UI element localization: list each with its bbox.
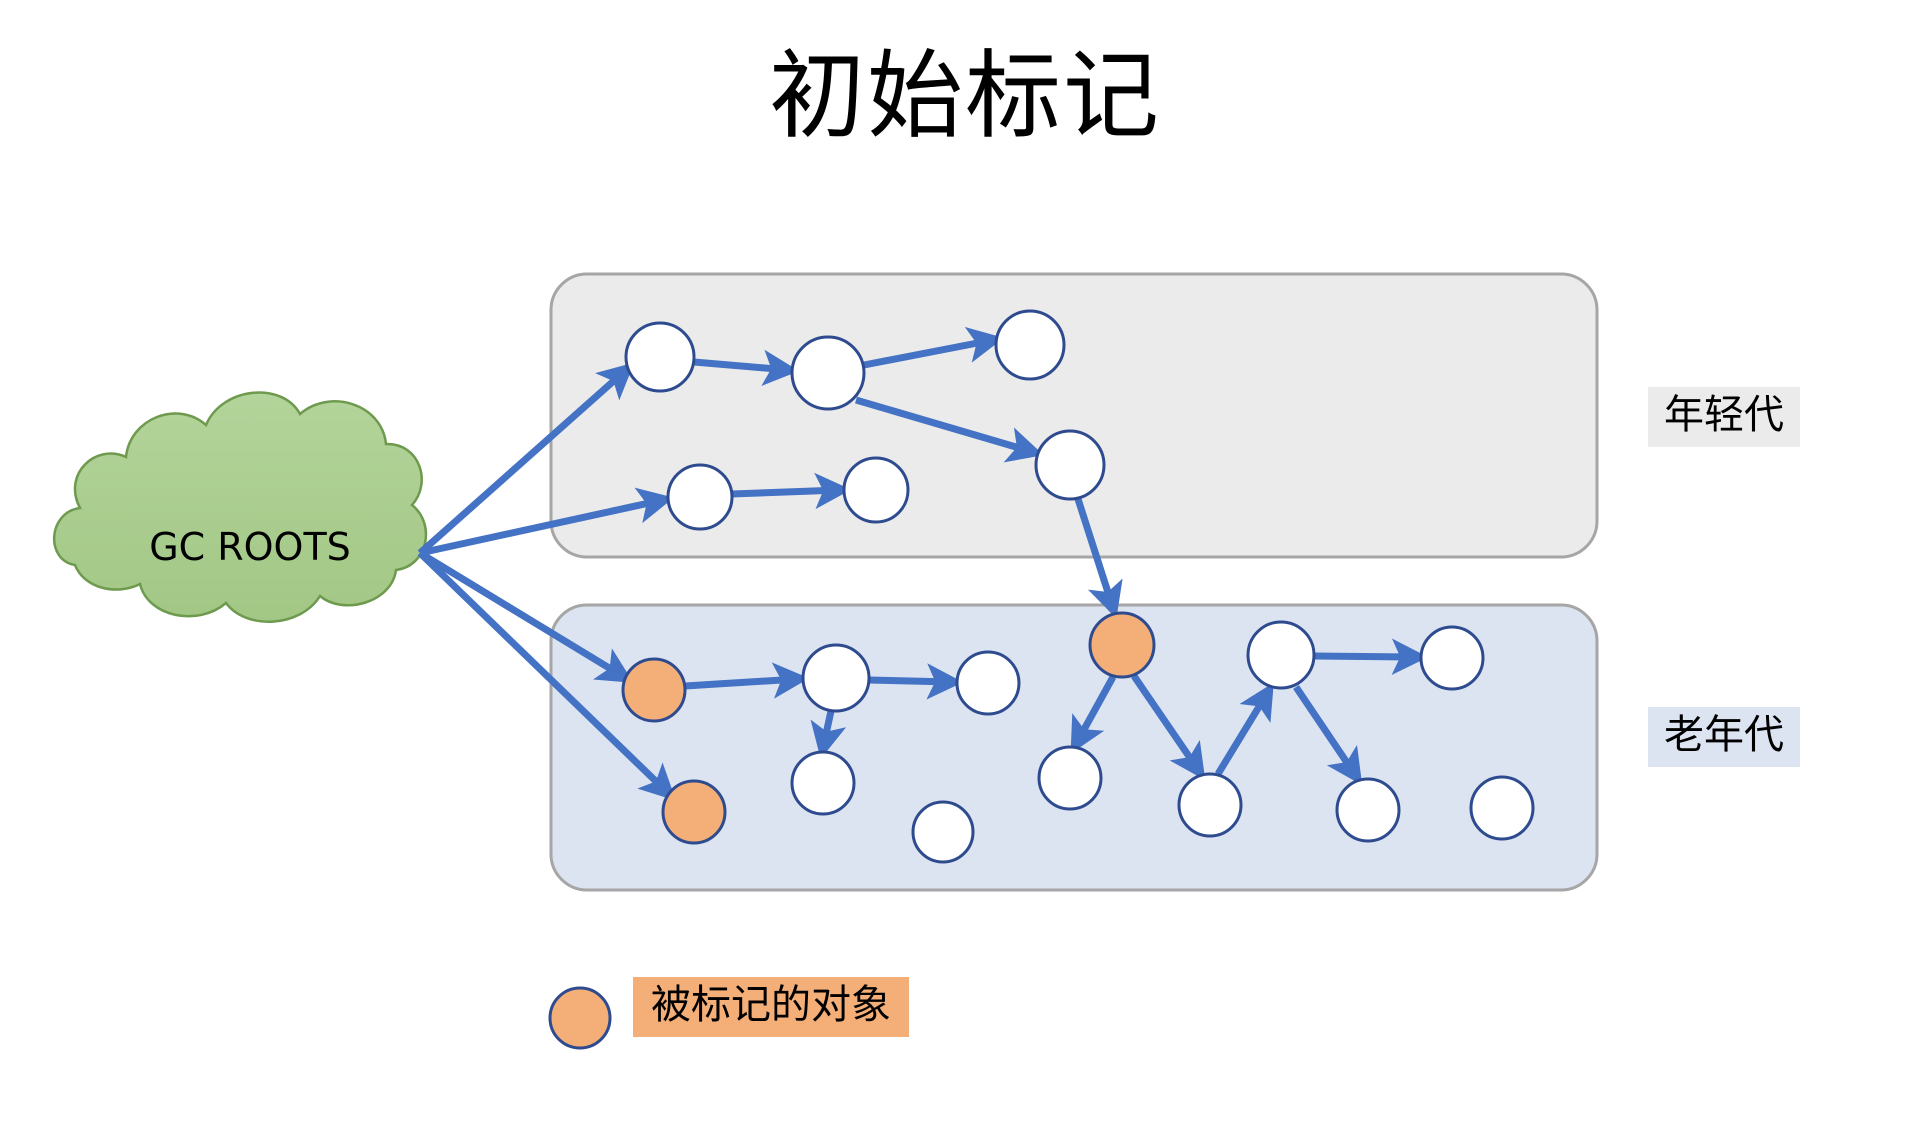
object-node[interactable] bbox=[803, 645, 869, 711]
legend-swatch-icon bbox=[550, 988, 610, 1048]
gc-mark-diagram bbox=[0, 0, 1930, 1148]
edge-o2-to-o3 bbox=[869, 680, 952, 682]
object-node[interactable] bbox=[1337, 779, 1399, 841]
object-node[interactable] bbox=[1421, 627, 1483, 689]
marked-object-node[interactable] bbox=[623, 659, 685, 721]
young-gen-label: 年轻代 bbox=[1648, 387, 1800, 447]
legend-label: 被标记的对象 bbox=[633, 977, 909, 1037]
marked-object-node[interactable] bbox=[1090, 613, 1154, 677]
object-node[interactable] bbox=[957, 652, 1019, 714]
object-node[interactable] bbox=[996, 311, 1064, 379]
object-node[interactable] bbox=[626, 323, 694, 391]
object-node[interactable] bbox=[1179, 774, 1241, 836]
object-node[interactable] bbox=[792, 752, 854, 814]
gc-roots-cloud[interactable] bbox=[54, 392, 426, 621]
object-node[interactable] bbox=[668, 465, 732, 529]
edge-o10-to-o11 bbox=[1314, 656, 1417, 657]
object-node[interactable] bbox=[1248, 622, 1314, 688]
object-node[interactable] bbox=[1471, 777, 1533, 839]
marked-object-node[interactable] bbox=[663, 781, 725, 843]
object-node[interactable] bbox=[844, 458, 908, 522]
edge-y4-to-y5 bbox=[732, 490, 840, 494]
slide-canvas: 初始标记 bbox=[0, 0, 1930, 1148]
object-node[interactable] bbox=[1039, 747, 1101, 809]
object-node[interactable] bbox=[913, 802, 973, 862]
object-node[interactable] bbox=[1036, 431, 1104, 499]
old-gen-label: 老年代 bbox=[1648, 707, 1800, 767]
object-node[interactable] bbox=[792, 337, 864, 409]
